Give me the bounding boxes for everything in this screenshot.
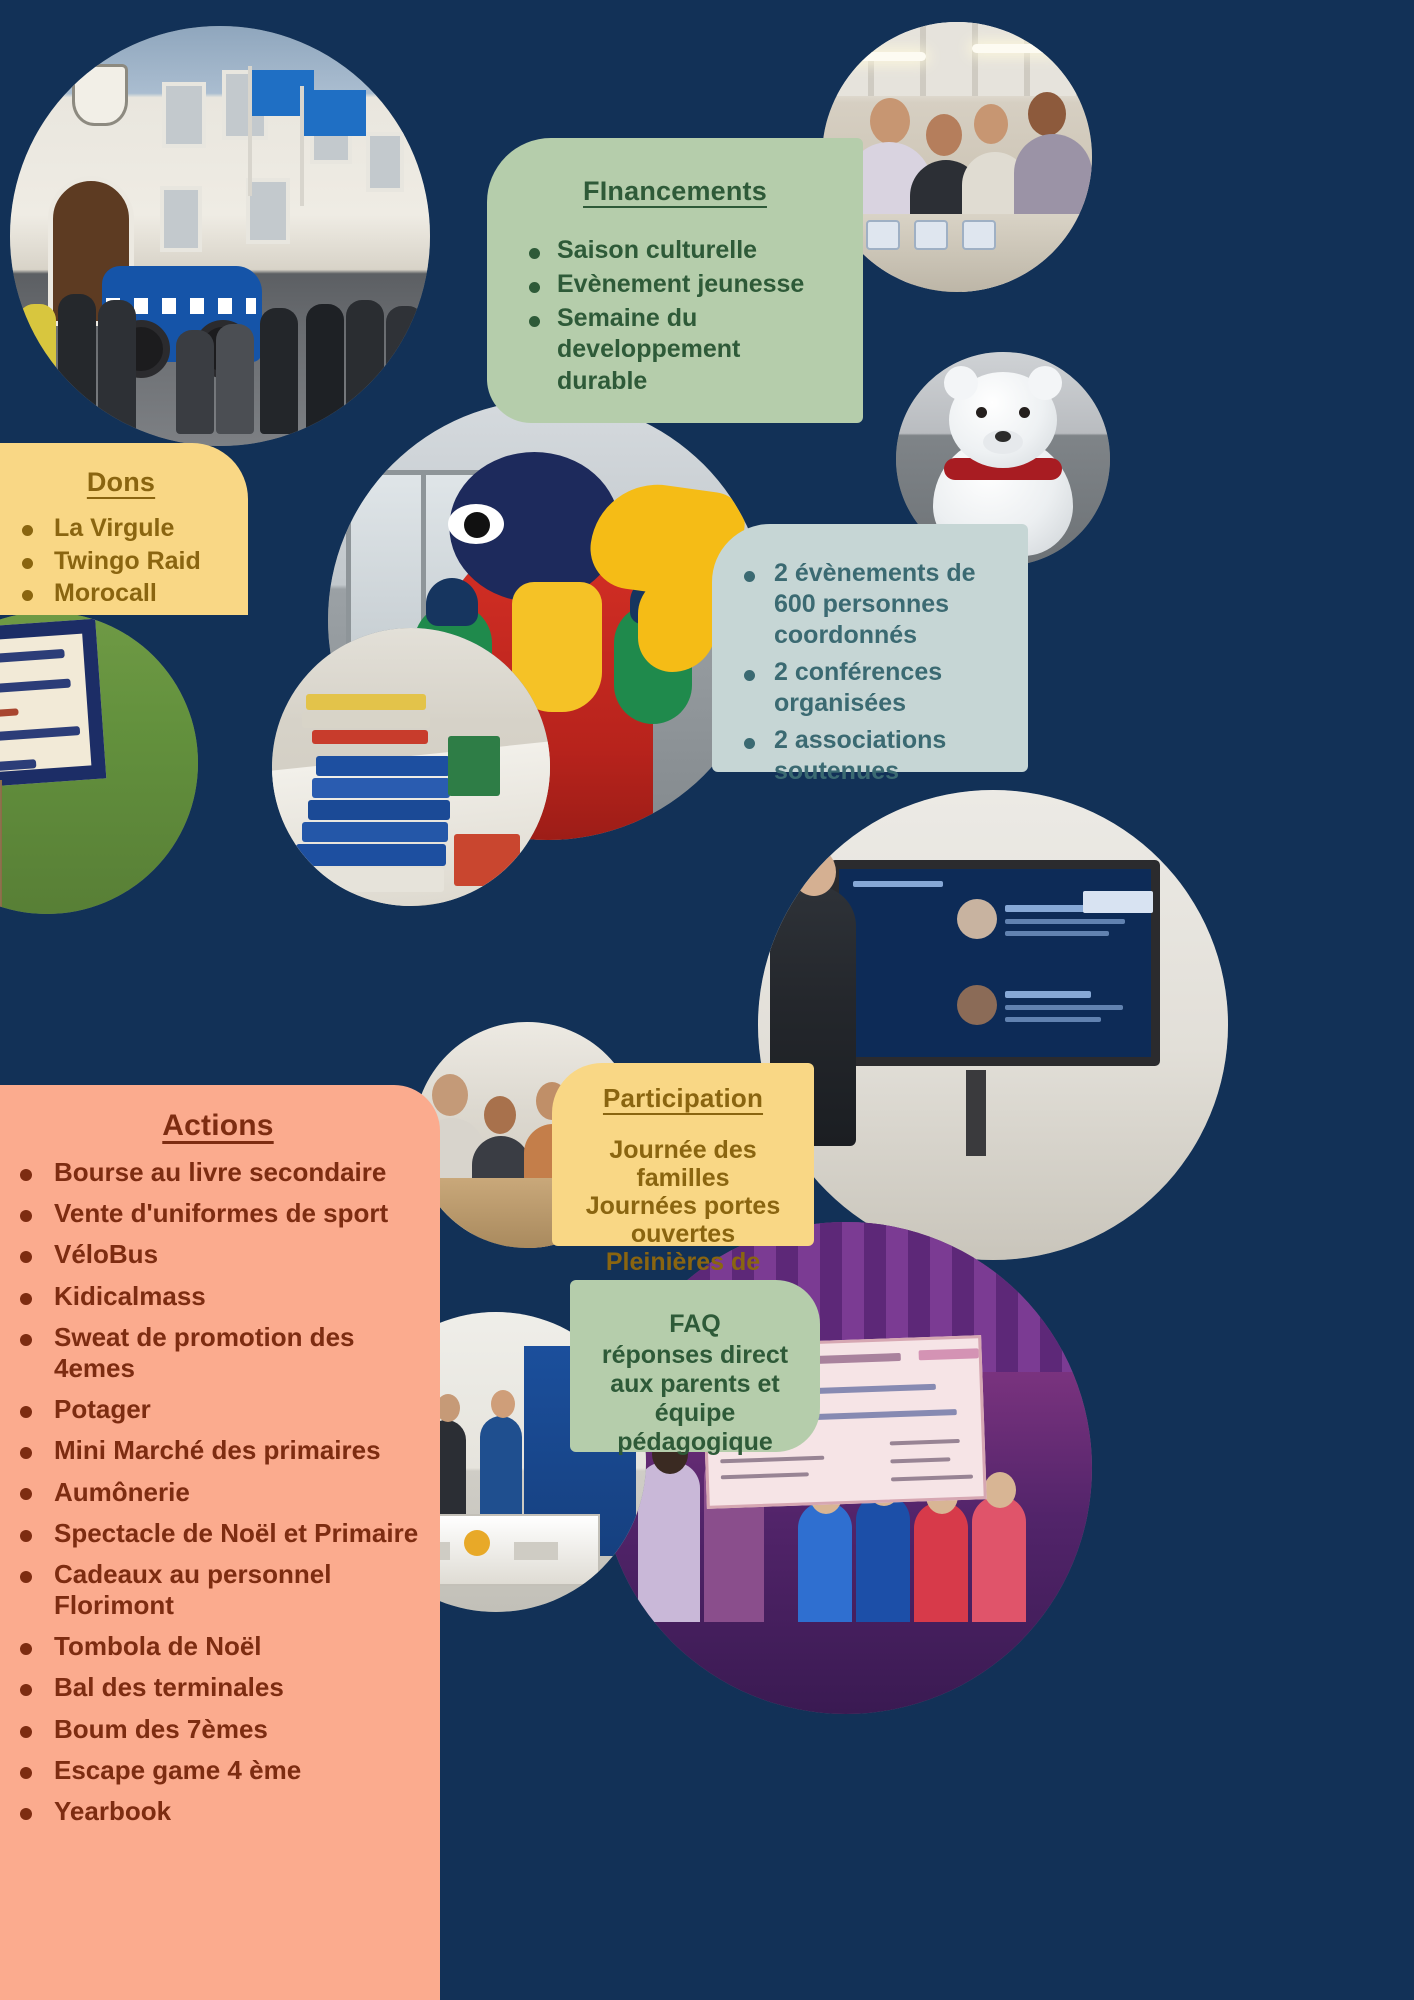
actions-panel: Actions Bourse au livre secondaire Vente…	[0, 1085, 440, 2000]
actions-list: Bourse au livre secondaire Vente d'unifo…	[8, 1157, 428, 1827]
participation-title: Participation	[564, 1083, 802, 1114]
participation-line: Journées portes ouvertes	[564, 1192, 802, 1248]
school-building-group-photo	[10, 26, 430, 446]
list-item: 2 conférences organisées	[732, 657, 1010, 719]
list-item: Twingo Raid	[10, 545, 232, 578]
list-item: Vente d'uniformes de sport	[8, 1198, 428, 1229]
financements-panel: FInancements Saison culturelle Evènement…	[487, 138, 863, 423]
participation-panel: Participation Journée des familles Journ…	[552, 1063, 814, 1246]
faq-panel: FAQ réponses direct aux parents et équip…	[570, 1280, 820, 1452]
faq-title: FAQ	[578, 1310, 812, 1339]
financements-list: Saison culturelle Evènement jeunesse Sem…	[517, 235, 833, 398]
participation-line: Journée des familles	[564, 1136, 802, 1192]
list-item: Yearbook	[8, 1796, 428, 1827]
list-item: Kidicalmass	[8, 1281, 428, 1312]
stats-list: 2 évènements de 600 personnes coordonnés…	[732, 558, 1010, 787]
dons-panel: Dons La Virgule Twingo Raid Morocall	[0, 443, 248, 615]
stats-panel: 2 évènements de 600 personnes coordonnés…	[712, 524, 1028, 772]
dons-list: La Virgule Twingo Raid Morocall	[10, 512, 232, 610]
list-item: Evènement jeunesse	[517, 269, 833, 301]
list-item: Potager	[8, 1394, 428, 1425]
conference-screen-photo	[758, 790, 1228, 1260]
garden-sign-photo	[0, 612, 198, 914]
list-item: Cadeaux au personnel Florimont	[8, 1559, 428, 1621]
book-sale-photo	[272, 628, 550, 906]
list-item: Sweat de promotion des 4emes	[8, 1322, 428, 1384]
list-item: Boum des 7èmes	[8, 1714, 428, 1745]
list-item: Spectacle de Noël et Primaire	[8, 1518, 428, 1549]
list-item: Escape game 4 ème	[8, 1755, 428, 1786]
list-item: Saison culturelle	[517, 235, 833, 267]
list-item: Bourse au livre secondaire	[8, 1157, 428, 1188]
list-item: Morocall	[10, 577, 232, 610]
list-item: Tombola de Noël	[8, 1631, 428, 1662]
list-item: Mini Marché des primaires	[8, 1435, 428, 1466]
list-item: Aumônerie	[8, 1477, 428, 1508]
list-item: Bal des terminales	[8, 1672, 428, 1703]
list-item: 2 associations soutenues	[732, 725, 1010, 787]
list-item: Semaine du developpement durable	[517, 303, 833, 398]
dons-title: Dons	[10, 467, 232, 498]
faq-line: aux parents et	[578, 1370, 812, 1399]
list-item: 2 évènements de 600 personnes coordonnés	[732, 558, 1010, 651]
poster-canvas: FInancements Saison culturelle Evènement…	[0, 0, 1414, 2000]
crest-decor	[72, 64, 128, 126]
faq-line: réponses direct	[578, 1341, 812, 1370]
financements-title: FInancements	[517, 176, 833, 207]
list-item: VéloBus	[8, 1239, 428, 1270]
actions-title: Actions	[8, 1109, 428, 1143]
faq-line: équipe pédagogique	[578, 1399, 812, 1457]
list-item: La Virgule	[10, 512, 232, 545]
